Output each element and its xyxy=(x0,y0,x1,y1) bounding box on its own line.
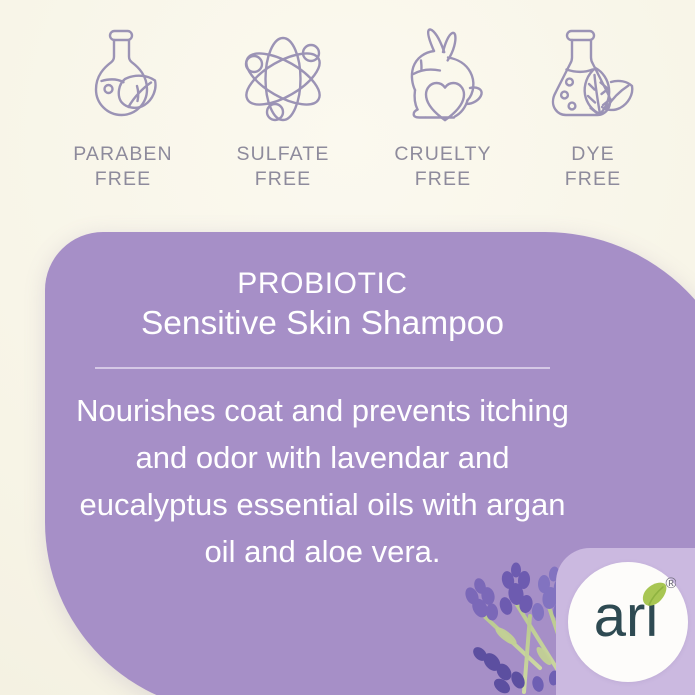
card-content: PROBIOTIC Sensitive Skin Shampoo Nourish… xyxy=(45,232,600,575)
atom-molecule-icon xyxy=(235,24,331,134)
product-feature-graphic: PARABEN FREE SULFATE FREE xyxy=(0,0,695,695)
badge-label: CRUELTY FREE xyxy=(394,142,491,192)
badge-label: DYE FREE xyxy=(565,142,621,192)
badge-label: PARABEN FREE xyxy=(73,142,172,192)
badge-dye-free: DYE FREE xyxy=(523,24,663,192)
rabbit-heart-icon xyxy=(393,24,493,134)
brand-logo-mark: ari ® xyxy=(556,548,676,668)
brand-logo-panel[interactable]: ari ® xyxy=(556,548,695,695)
card-body-text: Nourishes coat and prevents itching and … xyxy=(45,387,600,575)
badge-cruelty-free: CRUELTY FREE xyxy=(363,24,523,192)
claims-badge-row: PARABEN FREE SULFATE FREE xyxy=(0,24,695,204)
erlenmeyer-flask-leaf-icon xyxy=(550,24,636,134)
card-divider xyxy=(95,367,550,369)
flask-leaf-icon xyxy=(81,24,165,134)
badge-sulfate-free: SULFATE FREE xyxy=(203,24,363,192)
badge-paraben-free: PARABEN FREE xyxy=(43,24,203,192)
badge-label: SULFATE FREE xyxy=(237,142,330,192)
logo-trademark: ® xyxy=(665,575,676,592)
card-eyebrow: PROBIOTIC xyxy=(45,265,600,303)
card-title: Sensitive Skin Shampoo xyxy=(45,302,600,345)
